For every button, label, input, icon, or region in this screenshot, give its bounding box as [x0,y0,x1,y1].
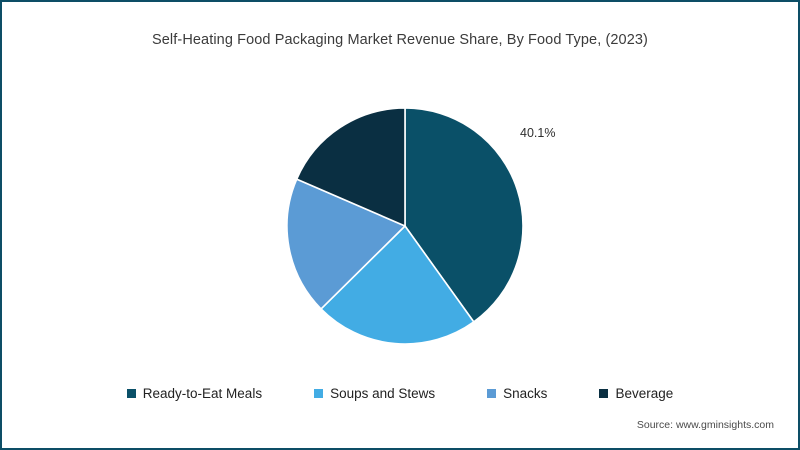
legend-item[interactable]: Snacks [487,387,547,401]
legend-item-label: Ready-to-Eat Meals [143,387,262,401]
legend-item-label: Snacks [503,387,547,401]
legend-item-label: Beverage [615,387,673,401]
legend-item[interactable]: Soups and Stews [314,387,435,401]
legend-swatch-icon [487,389,496,398]
chart-legend: Ready-to-Eat MealsSoups and StewsSnacksB… [2,387,798,401]
chart-canvas: Self-Heating Food Packaging Market Reven… [0,0,800,450]
legend-swatch-icon [314,389,323,398]
pie-slice-value-label: 40.1% [520,126,555,140]
source-attribution: Source: www.gminsights.com [637,419,774,431]
pie-chart-svg [285,106,525,346]
page-title: Self-Heating Food Packaging Market Reven… [2,32,798,48]
pie-slice-group [287,108,523,344]
legend-item-label: Soups and Stews [330,387,435,401]
legend-item[interactable]: Ready-to-Eat Meals [127,387,262,401]
legend-item[interactable]: Beverage [599,387,673,401]
legend-swatch-icon [127,389,136,398]
legend-swatch-icon [599,389,608,398]
pie-chart [285,106,525,346]
